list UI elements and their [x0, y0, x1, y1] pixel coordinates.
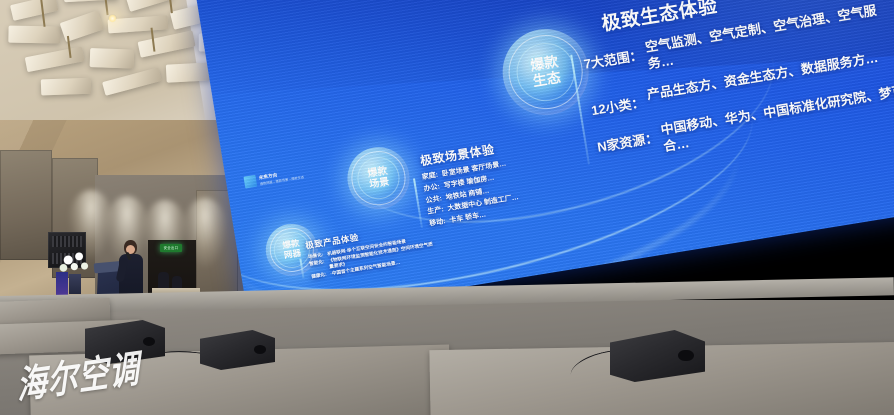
row-key: 家庭: [421, 172, 439, 183]
row-key: 12小类： [589, 88, 646, 120]
row-key: 移动: [429, 218, 447, 229]
badge-square-icon [244, 175, 258, 189]
row-key: 公共: [425, 195, 443, 206]
row-key: 健康化: [311, 272, 327, 280]
row-key: 办公: [423, 183, 441, 194]
block-ecosystem: 极致生态体验 7大范围： 空气监测、空气定制、空气治理、空气服务… 12小类： … [564, 0, 894, 181]
row-key: N家资源： [595, 123, 659, 156]
exit-sign-text: 安全出口 [160, 244, 182, 252]
screenshot-root: 海尔空调 健康空气 未来方向 爆款网器→爆款场景→爆款生态 爆款 网器 爆款 场… [0, 0, 894, 415]
row-key: 生产: [427, 206, 445, 217]
row-key: 7大范围： [582, 41, 644, 74]
led-presentation-screen: 海尔空调 健康空气 未来方向 爆款网器→爆款场景→爆款生态 爆款 网器 爆款 场… [196, 0, 894, 322]
row-key: 智能化: [309, 259, 325, 267]
row-value: 卡车 轿车… [449, 211, 487, 226]
exit-sign: 安全出口 [160, 244, 182, 252]
flower-arrangement [58, 248, 92, 294]
